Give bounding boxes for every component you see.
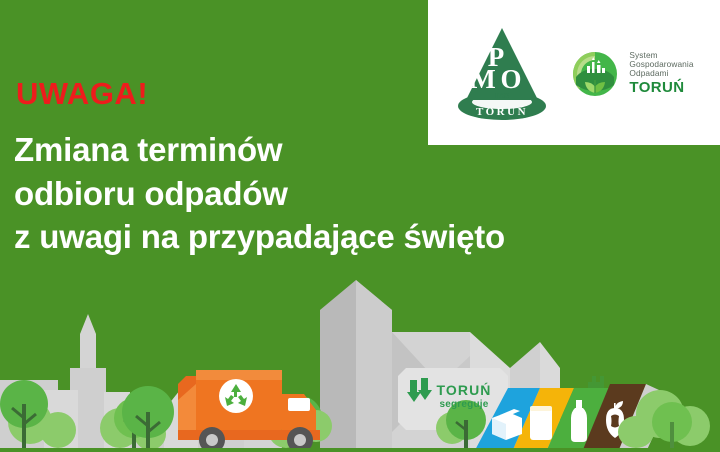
poster-canvas: P M O 1733 TORUŃ — [0, 0, 720, 452]
svg-text:O: O — [501, 64, 522, 94]
city-scene-illustration — [0, 272, 720, 452]
headline-line-3: z uwagi na przypadające święto — [14, 215, 505, 259]
recycling-symbol — [219, 379, 253, 413]
logo-panel: P M O 1733 TORUŃ — [428, 0, 720, 145]
alert-word: UWAGA! — [16, 78, 148, 109]
sgo-torun-logo: System Gospodarowania Odpadami TORUŃ — [568, 47, 693, 101]
mpo-logo-year: 1733 — [495, 91, 510, 100]
sgo-city-label: TORUŃ — [629, 80, 693, 97]
can-icon — [530, 406, 552, 440]
garbage-truck — [178, 370, 320, 452]
mpo-torun-logo: P M O 1733 TORUŃ — [454, 22, 550, 126]
mpo-logo-city: TORUŃ — [476, 106, 528, 118]
svg-text:M: M — [471, 64, 496, 94]
headline: Zmiana terminów odbioru odpadów z uwagi … — [14, 128, 505, 259]
waste-management-circle-icon — [568, 47, 622, 101]
headline-line-1: Zmiana terminów — [14, 128, 505, 172]
sgo-line-3: Odpadami — [629, 69, 693, 78]
headline-line-2: odbioru odpadów — [14, 172, 505, 216]
